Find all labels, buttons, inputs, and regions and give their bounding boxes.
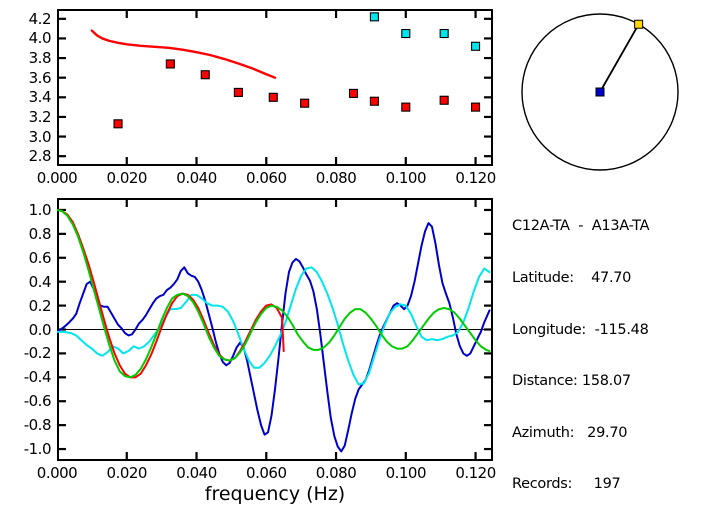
- x-tick-label: 0.040: [176, 464, 216, 482]
- x-tick-label: 0.020: [107, 464, 147, 482]
- x-tick-label: 0.100: [386, 464, 426, 482]
- y-tick-label: 0.2: [1, 297, 51, 315]
- y-tick-label: 3.4: [1, 88, 51, 106]
- x-tick-label: 0.040: [176, 169, 216, 187]
- y-tick-label: 0.6: [1, 249, 51, 267]
- station-pair-info: C12A-TA - A13A-TA Latitude: 47.70 Longit…: [512, 184, 702, 528]
- y-tick-label: -0.8: [1, 416, 51, 434]
- x-tick-label: 0.100: [386, 169, 426, 187]
- waveform-chart: [57, 198, 493, 461]
- x-tick-label: 0.080: [316, 169, 356, 187]
- x-tick-label: 0.000: [37, 169, 77, 187]
- y-tick-label: 4.2: [1, 10, 51, 28]
- y-tick-label: 3.0: [1, 128, 51, 146]
- azimuth-circle-icon: [512, 6, 698, 178]
- source-station-marker: [596, 88, 604, 96]
- x-tick-label: 0.080: [316, 464, 356, 482]
- x-axis-title: frequency (Hz): [0, 483, 550, 505]
- x-tick-label: 0.060: [246, 464, 286, 482]
- distance-row: Distance: 158.07: [512, 373, 702, 390]
- y-tick-label: 3.2: [1, 108, 51, 126]
- records-row: Records: 197: [512, 476, 702, 493]
- x-tick-label: 0.020: [107, 169, 147, 187]
- y-tick-label: 4.0: [1, 29, 51, 47]
- y-tick-label: -1.0: [1, 440, 51, 458]
- y-tick-label: 3.6: [1, 69, 51, 87]
- azimuth-diagram: [512, 6, 698, 178]
- azimuth-path-line: [600, 24, 639, 92]
- y-tick-label: -0.6: [1, 392, 51, 410]
- y-tick-label: 0.4: [1, 273, 51, 291]
- y-tick-label: 0.8: [1, 225, 51, 243]
- longitude-row: Longitude: -115.48: [512, 322, 702, 339]
- latitude-row: Latitude: 47.70: [512, 270, 702, 287]
- x-tick-label: 0.060: [246, 169, 286, 187]
- station-pair-title: C12A-TA - A13A-TA: [512, 218, 702, 235]
- y-tick-label: 3.8: [1, 49, 51, 67]
- azimuth-row: Azimuth: 29.70: [512, 425, 702, 442]
- x-tick-label: 0.120: [455, 169, 495, 187]
- y-tick-label: 1.0: [1, 201, 51, 219]
- waveform-plot-canvas: [57, 198, 493, 461]
- figure-root: 2.83.03.23.43.63.84.04.2 0.0000.0200.040…: [0, 0, 703, 519]
- x-tick-label: 0.000: [37, 464, 77, 482]
- y-tick-label: -0.2: [1, 344, 51, 362]
- receiver-station-marker: [635, 20, 643, 28]
- dispersion-chart: [57, 9, 493, 166]
- x-tick-label: 0.120: [455, 464, 495, 482]
- y-tick-label: -0.4: [1, 368, 51, 386]
- y-tick-label: 2.8: [1, 147, 51, 165]
- y-tick-label: 0.0: [1, 321, 51, 339]
- dispersion-plot-canvas: [57, 9, 493, 166]
